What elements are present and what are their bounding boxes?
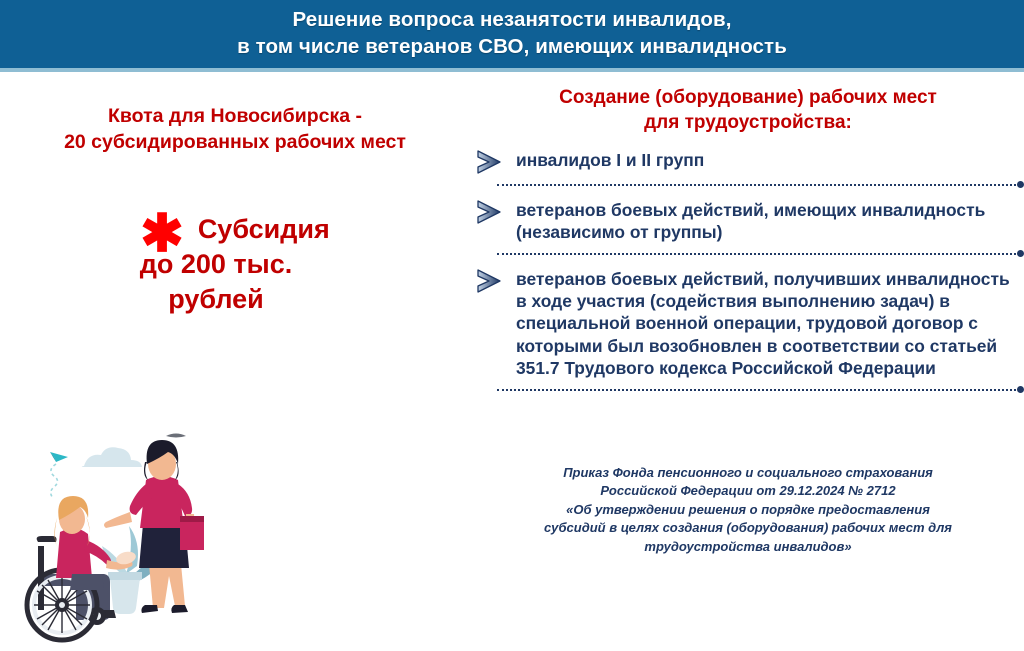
list-item-label: ветеранов боевых действий, имеющих инвал… — [516, 198, 1010, 244]
chevron-arrow-icon — [476, 199, 506, 225]
creation-heading-line-2: для трудоустройства: — [486, 111, 1010, 136]
bullet-list: инвалидов I и II групп ветеранов — [472, 148, 1024, 403]
citation-line-5: трудоустройства инвалидов» — [500, 538, 996, 556]
quota-heading: Квота для Новосибирска - 20 субсидирован… — [0, 104, 470, 156]
divider-end-dot — [1017, 181, 1024, 188]
subsidy-amount-line: до 200 тыс. — [0, 247, 470, 282]
citation-line-4: субсидий в целях создания (оборудования)… — [500, 519, 996, 537]
chevron-arrow-icon — [476, 149, 506, 175]
divider-line — [497, 184, 1016, 186]
divider-dotted — [497, 386, 1024, 394]
chevron-arrow-icon — [476, 268, 506, 294]
wheelchair-handshake-illustration — [14, 424, 266, 646]
page-title: Решение вопроса незанятости инвалидов, в… — [197, 7, 827, 60]
legal-citation: Приказ Фонда пенсионного и социального с… — [472, 464, 1024, 556]
asterisk-icon: ✱ — [140, 219, 184, 250]
citation-line-1: Приказ Фонда пенсионного и социального с… — [500, 464, 996, 482]
creation-heading: Создание (оборудование) рабочих мест для… — [472, 86, 1024, 135]
list-item-label: ветеранов боевых действий, получивших ин… — [516, 267, 1010, 380]
quota-heading-line-2: 20 субсидированных рабочих мест — [18, 130, 452, 156]
creation-heading-line-1: Создание (оборудование) рабочих мест — [486, 86, 1010, 111]
list-item: ветеранов боевых действий, получивших ин… — [472, 267, 1024, 380]
divider-end-dot — [1017, 386, 1024, 393]
divider-line — [497, 253, 1016, 255]
subsidy-callout: ✱ Субсидия до 200 тыс. рублей — [0, 212, 470, 317]
divider-line — [497, 389, 1016, 391]
left-column: Квота для Новосибирска - 20 субсидирован… — [0, 72, 470, 576]
subsidy-label: Субсидия — [198, 212, 330, 247]
right-column: Создание (оборудование) рабочих мест для… — [472, 72, 1024, 576]
subsidy-first-line: ✱ Субсидия — [0, 212, 470, 247]
divider-end-dot — [1017, 250, 1024, 257]
citation-line-3: «Об утверждении решения о порядке предос… — [500, 501, 996, 519]
slide-header-bar: Решение вопроса незанятости инвалидов, в… — [0, 0, 1024, 68]
citation-line-2: Российской Федерации от 29.12.2024 № 271… — [500, 482, 996, 500]
divider-dotted — [497, 181, 1024, 189]
list-item-label: инвалидов I и II групп — [516, 148, 704, 171]
quota-heading-line-1: Квота для Новосибирска - — [18, 104, 452, 130]
page-title-line-2: в том числе ветеранов СВО, имеющих инвал… — [237, 34, 787, 61]
list-item: ветеранов боевых действий, имеющих инвал… — [472, 198, 1024, 244]
list-item: инвалидов I и II групп — [472, 148, 1024, 175]
divider-dotted — [497, 250, 1024, 258]
subsidy-currency-line: рублей — [0, 282, 470, 317]
page-title-line-1: Решение вопроса незанятости инвалидов, — [237, 7, 787, 34]
